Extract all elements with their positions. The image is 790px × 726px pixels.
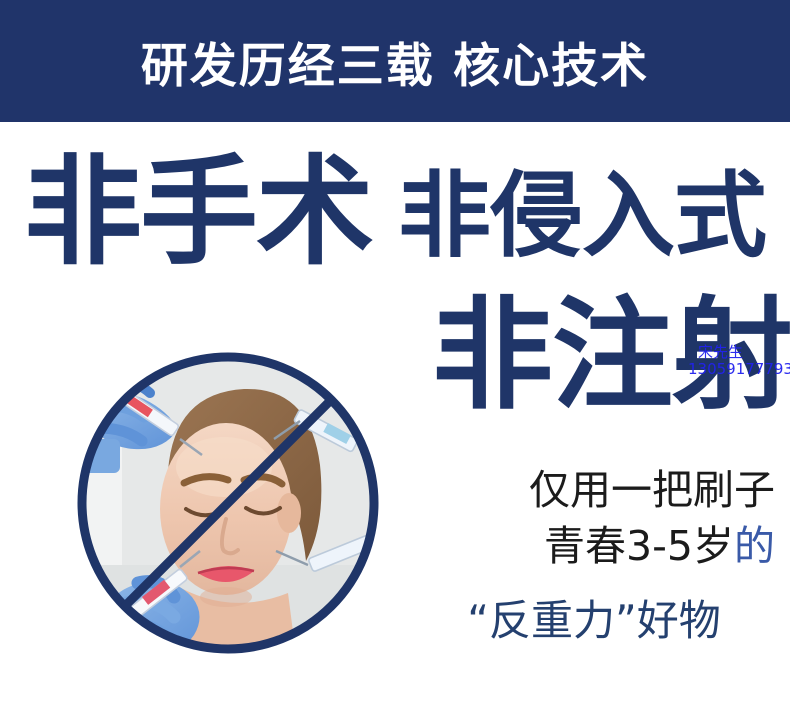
copy-line-brush: 仅用一把刷子: [420, 462, 775, 518]
tagline-antigravity: “反重力”好物: [420, 594, 768, 648]
headline-non-injection: 非注射: [432, 294, 790, 418]
headline-group: 非手术 非侵入式: [0, 152, 790, 282]
headline-non-surgical: 非手术: [24, 152, 372, 272]
body-copy: 仅用一把刷子 青春3-5岁的: [420, 462, 775, 574]
copy-line-youth: 青春3-5岁的: [420, 518, 775, 574]
prohibited-injection-photo: [76, 351, 380, 655]
headline-non-invasive: 非侵入式: [398, 168, 766, 264]
promo-poster: 研发历经三载 核心技术 非手术 非侵入式 非注射 宋先生 13059177793: [0, 0, 790, 726]
header-band: 研发历经三载 核心技术: [0, 0, 790, 122]
copy-youth-accent: 的: [734, 522, 775, 570]
photo-svg: [76, 351, 380, 655]
copy-youth-main: 青春3-5岁: [544, 522, 734, 570]
header-title: 研发历经三载 核心技术: [141, 27, 649, 96]
